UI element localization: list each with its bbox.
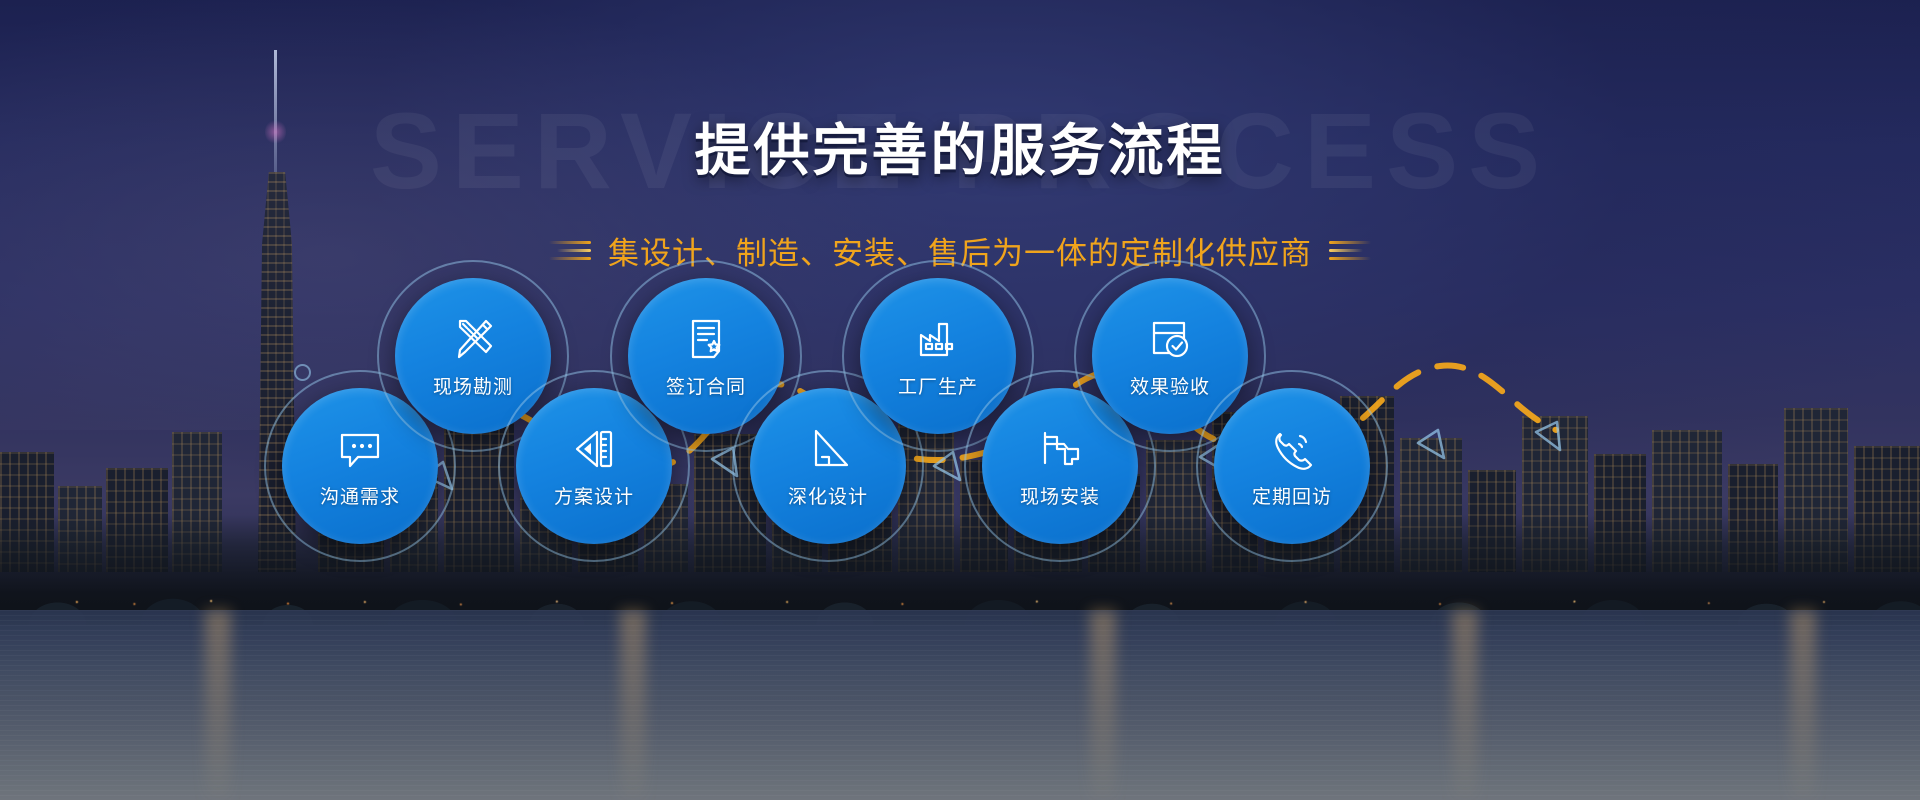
water-glint — [205, 610, 231, 800]
factory-icon — [912, 313, 964, 365]
decor-lines-right-icon — [1329, 241, 1371, 260]
power-drill-icon — [1034, 423, 1086, 475]
step-label: 签订合同 — [666, 372, 746, 399]
approved-window-icon — [1144, 313, 1196, 365]
page-title: 提供完善的服务流程 — [0, 106, 1920, 187]
decor-lines-left-icon — [549, 241, 591, 260]
triangle-ruler-icon — [802, 423, 854, 475]
water-glint — [1452, 610, 1478, 800]
water-glint — [1090, 610, 1116, 800]
contract-document-icon — [680, 313, 732, 365]
step-label: 深化设计 — [788, 482, 868, 509]
water-glint — [620, 610, 646, 800]
step-disc[interactable]: 定期回访 — [1214, 388, 1370, 544]
ruler-pencil-cross-icon — [447, 313, 499, 365]
step-label: 现场勘测 — [433, 372, 513, 399]
design-ruler-icon — [568, 423, 620, 475]
step-label: 定期回访 — [1252, 482, 1332, 509]
water-glint — [1790, 610, 1816, 800]
shore-lights — [0, 592, 1920, 612]
step-label: 沟通需求 — [320, 482, 400, 509]
phone-call-icon — [1266, 423, 1318, 475]
water-reflection — [0, 610, 1920, 800]
process-step-9[interactable]: 定期回访 — [1214, 388, 1370, 544]
step-label: 工厂生产 — [898, 372, 978, 399]
step-label: 效果验收 — [1130, 372, 1210, 399]
step-label: 方案设计 — [554, 482, 634, 509]
step-label: 现场安装 — [1020, 482, 1100, 509]
service-process-banner: SERVICE PROCESS 提供完善的服务流程 集设计、制造、安装、售后为一… — [0, 0, 1920, 800]
ring-start-dot-icon — [294, 364, 311, 381]
chat-bubble-icon — [334, 423, 386, 475]
